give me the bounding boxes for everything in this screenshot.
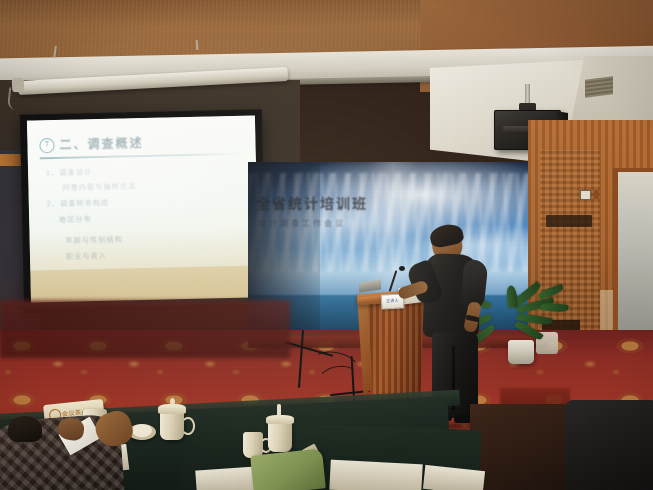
projection-screen[interactable]: T 二、调查概述 1、调查设计 问卷内容与抽样方法 2、调查样本构成 地区分布 … bbox=[20, 109, 266, 312]
screen-pull-cord bbox=[7, 87, 25, 111]
air-vent-icon bbox=[585, 76, 613, 97]
tea-cup-handle bbox=[181, 417, 195, 435]
slide-body-line-4: 地区分布 bbox=[59, 214, 92, 225]
banner-subline: 统计调查工作会议 bbox=[258, 218, 346, 229]
tea-cup-lid bbox=[158, 404, 186, 414]
banner-headline: 全省统计培训班 bbox=[256, 194, 368, 214]
lidded-tea-cup bbox=[268, 420, 292, 452]
podium-name-card-text: 主讲人 bbox=[384, 298, 401, 305]
attendee-head bbox=[8, 416, 42, 442]
green-folder bbox=[250, 448, 326, 490]
tea-cup-lid-knob bbox=[170, 398, 175, 405]
microphone-icon bbox=[399, 266, 405, 271]
slide-badge-icon: T bbox=[39, 138, 54, 153]
wall-fixture bbox=[594, 190, 599, 199]
conference-room-photo: T 二、调查概述 1、调查设计 问卷内容与抽样方法 2、调查样本构成 地区分布 … bbox=[0, 0, 653, 490]
paper-sheet bbox=[329, 460, 422, 490]
slide-body-line-5: 年龄与性别结构 bbox=[66, 234, 124, 245]
wood-wall-inset bbox=[546, 215, 592, 227]
slide-body-line-1: 1、调查设计 bbox=[46, 167, 92, 178]
projection-screen-surface: T 二、调查概述 1、调查设计 问卷内容与抽样方法 2、调查样本构成 地区分布 … bbox=[27, 115, 259, 305]
plant-pot bbox=[508, 340, 534, 364]
slide-title-rule bbox=[40, 153, 240, 160]
slide-body-line-6: 职业与收入 bbox=[66, 251, 107, 262]
light-switch[interactable] bbox=[580, 190, 591, 200]
presentation-slide: T 二、调查概述 1、调查设计 问卷内容与抽样方法 2、调查样本构成 地区分布 … bbox=[27, 115, 258, 272]
slide-body-line-3: 2、调查样本构成 bbox=[47, 198, 110, 209]
floor-shadow-front bbox=[0, 300, 290, 358]
slide-body-line-2: 问卷内容与抽样方法 bbox=[62, 181, 136, 193]
slide-title: 二、调查概述 bbox=[59, 134, 143, 153]
foreground-chair-back bbox=[565, 400, 653, 490]
tea-cup-lid-knob bbox=[277, 404, 281, 417]
